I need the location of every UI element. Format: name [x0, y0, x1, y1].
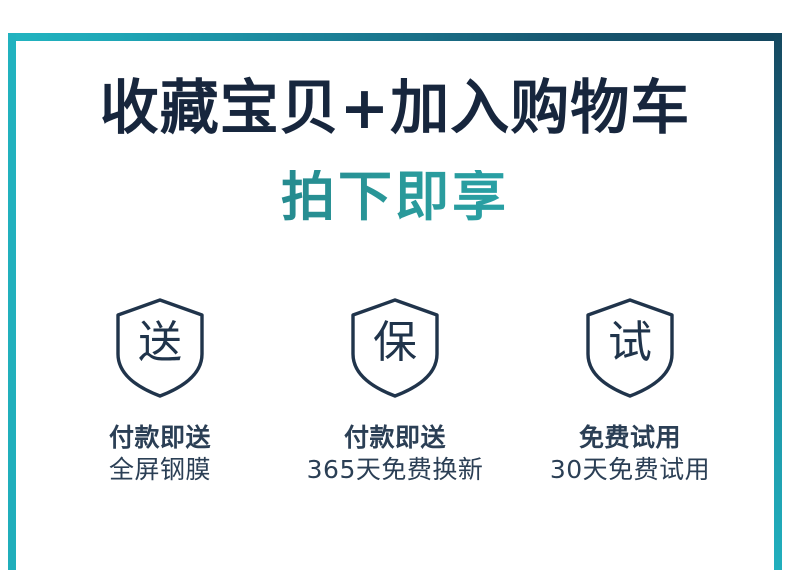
badge-item-gift: 送 付款即送 全屏钢膜: [60, 296, 260, 486]
banner-content: 收藏宝贝+加入购物车 拍下即享 送 付款即送 全屏钢膜: [16, 41, 774, 570]
promo-banner: 收藏宝贝+加入购物车 拍下即享 送 付款即送 全屏钢膜: [0, 0, 790, 570]
badge-caption-primary: 免费试用: [550, 422, 710, 454]
badge-caption-secondary: 全屏钢膜: [109, 454, 211, 486]
shield-character: 送: [112, 296, 208, 400]
badge-caption-primary: 付款即送: [307, 422, 484, 454]
badge-item-warranty: 保 付款即送 365天免费换新: [295, 296, 495, 486]
shield-icon: 保: [347, 296, 443, 400]
headline-text: 收藏宝贝+加入购物车: [16, 78, 774, 137]
shield-icon: 试: [582, 296, 678, 400]
badge-list: 送 付款即送 全屏钢膜 保 付款即送 365天免费换新: [16, 296, 774, 486]
badge-caption-secondary: 365天免费换新: [307, 454, 484, 486]
subheadline-text: 拍下即享: [16, 170, 774, 224]
badge-caption: 付款即送 365天免费换新: [307, 422, 484, 486]
frame-border-left: [8, 33, 16, 570]
shield-character: 试: [582, 296, 678, 400]
badge-caption-secondary: 30天免费试用: [550, 454, 710, 486]
frame-border-top: [8, 33, 782, 41]
badge-item-trial: 试 免费试用 30天免费试用: [530, 296, 730, 486]
badge-caption: 免费试用 30天免费试用: [550, 422, 710, 486]
shield-character: 保: [347, 296, 443, 400]
badge-caption-primary: 付款即送: [109, 422, 211, 454]
shield-icon: 送: [112, 296, 208, 400]
badge-caption: 付款即送 全屏钢膜: [109, 422, 211, 486]
frame-border-right: [774, 33, 782, 570]
